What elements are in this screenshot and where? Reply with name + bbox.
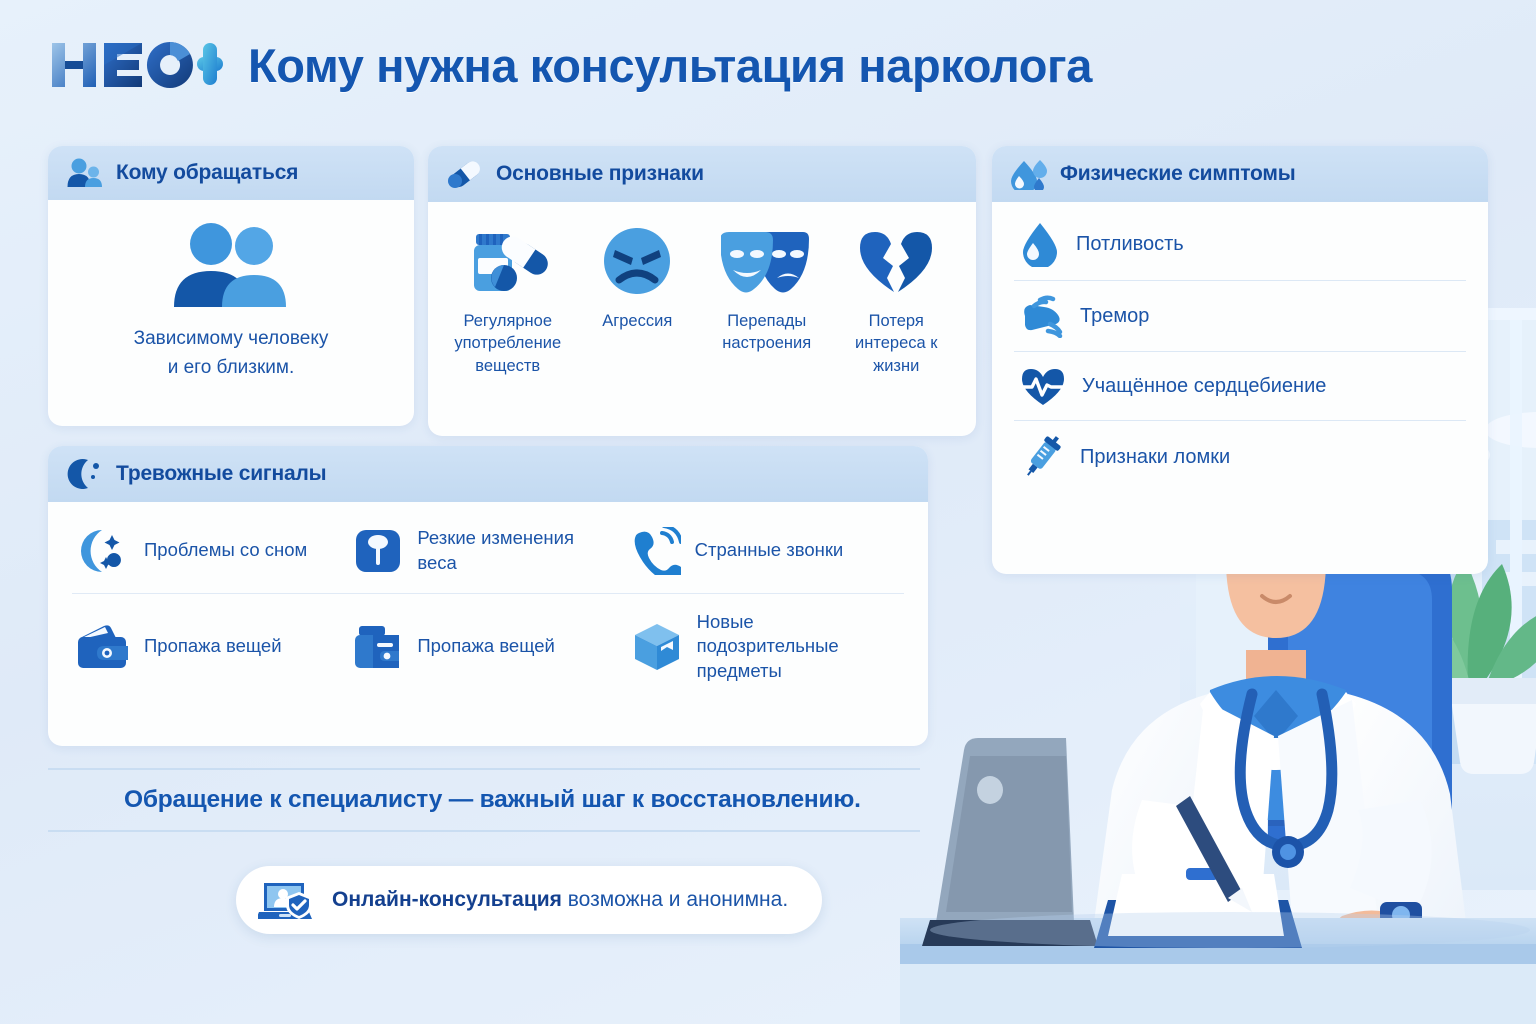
alarm-label: Странные звонки: [695, 538, 844, 562]
weight-scale-icon: [353, 527, 403, 575]
droplet-icon: [1020, 221, 1060, 267]
clipboard-icon: [1094, 868, 1302, 948]
card-phys-body: Потливость Тремор Уча: [992, 202, 1488, 503]
who-text-line2: и его близким.: [134, 353, 329, 382]
phys-row: Потливость: [1014, 208, 1466, 281]
moon-icon: [66, 458, 104, 490]
phys-row: Признаки ломки: [1014, 421, 1466, 493]
card-phys-header: Физические симптомы: [992, 146, 1488, 202]
page-header: Кому нужна консультация нарколога: [48, 36, 1092, 94]
alarm-item: Новые подозрительные предметы: [627, 594, 904, 699]
card-signs-title: Основные признаки: [496, 162, 704, 186]
sign-label: Агрессия: [602, 310, 672, 332]
box-package-icon: [631, 622, 683, 672]
alarm-label: Проблемы со сном: [144, 538, 307, 562]
sign-label: Перепады настроения: [705, 310, 829, 355]
alarm-item: Резкие изменения веса: [349, 508, 626, 594]
alarm-grid: Проблемы со сном Резкие изменения веса: [72, 508, 904, 699]
sign-item: Перепады настроения: [705, 226, 829, 377]
conclusion-banner: Обращение к специалисту — важный шаг к в…: [48, 768, 920, 832]
pen-icon: [1176, 796, 1252, 912]
card-who-text: Зависимому человеку и его близким.: [134, 324, 329, 383]
page-title: Кому нужна консультация нарколога: [248, 38, 1092, 93]
phys-row: Учащённое сердцебиение: [1014, 352, 1466, 421]
laptop-verified-icon: [258, 878, 316, 922]
alarm-item: Пропажа вещей: [72, 594, 349, 699]
wallet-closed-icon: [353, 624, 403, 670]
sign-item: Агрессия: [576, 226, 700, 377]
card-who-title: Кому обращаться: [116, 161, 298, 185]
alarm-item: Пропажа вещей: [349, 594, 626, 699]
card-alarm-title: Тревожные сигналы: [116, 462, 326, 486]
office-chair: [1268, 546, 1452, 840]
alarm-item: Проблемы со сном: [72, 508, 349, 594]
card-alarm-signals: Тревожные сигналы Проблемы со сном: [48, 446, 928, 746]
angry-face-icon: [599, 226, 675, 296]
card-who-body: Зависимому человеку и его близким.: [48, 200, 414, 401]
phys-label: Учащённое сердцебиение: [1082, 373, 1326, 399]
sign-item: Потеря интереса к жизни: [835, 226, 959, 377]
pills-icon: [446, 158, 484, 190]
card-physical-symptoms: Физические симптомы Потливость: [992, 146, 1488, 574]
phys-label: Тремор: [1080, 303, 1149, 329]
banner-text: Обращение к специалисту — важный шаг к в…: [124, 786, 920, 814]
badge-text: Онлайн-консультация возможна и анонимна.: [332, 888, 788, 912]
sign-label: Регулярное употребление веществ: [446, 310, 570, 377]
who-text-line1: Зависимому человеку: [134, 324, 329, 353]
wallet-icon: [76, 624, 130, 670]
card-alarm-header: Тревожные сигналы: [48, 446, 928, 502]
sign-label: Потеря интереса к жизни: [835, 310, 959, 377]
card-phys-title: Физические симптомы: [1060, 162, 1295, 186]
people-icon: [66, 158, 104, 188]
plant-icon: [1404, 560, 1536, 774]
phys-label: Потливость: [1076, 231, 1184, 257]
sign-item: Регулярное употребление веществ: [446, 226, 570, 377]
card-who-header: Кому обращаться: [48, 146, 414, 200]
alarm-label: Новые подозрительные предметы: [697, 610, 894, 683]
online-consultation-badge[interactable]: Онлайн-консультация возможна и анонимна.: [236, 866, 822, 934]
phone-call-icon: [631, 527, 681, 575]
heart-pulse-icon: [1020, 365, 1066, 407]
card-main-signs: Основные признаки: [428, 146, 976, 436]
alarm-item: Странные звонки: [627, 508, 904, 594]
trembling-hand-icon: [1020, 294, 1064, 338]
pill-bottle-icon: [466, 226, 550, 296]
signs-grid: Регулярное употребление веществ Агрессия: [446, 218, 958, 377]
card-alarm-body: Проблемы со сном Резкие изменения веса: [48, 502, 928, 713]
alarm-label: Пропажа вещей: [144, 634, 282, 658]
badge-text-bold: Онлайн-консультация: [332, 888, 562, 911]
phys-row: Тремор: [1014, 281, 1466, 352]
people-large-icon: [167, 222, 295, 308]
card-signs-body: Регулярное употребление веществ Агрессия: [428, 202, 976, 395]
laptop-icon: [922, 738, 1098, 946]
card-signs-header: Основные признаки: [428, 146, 976, 202]
phys-label: Признаки ломки: [1080, 444, 1230, 470]
card-who-to-contact: Кому обращаться Зависимому человеку и ег…: [48, 146, 414, 426]
badge-text-rest: возможна и анонимна.: [562, 888, 788, 911]
broken-heart-icon: [856, 226, 936, 296]
alarm-label: Пропажа вещей: [417, 634, 555, 658]
theater-masks-icon: [721, 226, 813, 296]
moon-sleep-icon: [76, 527, 130, 575]
water-drops-icon: [1010, 158, 1048, 190]
alarm-label: Резкие изменения веса: [417, 526, 616, 575]
brand-logo: [48, 36, 228, 94]
syringe-icon: [1020, 434, 1064, 480]
